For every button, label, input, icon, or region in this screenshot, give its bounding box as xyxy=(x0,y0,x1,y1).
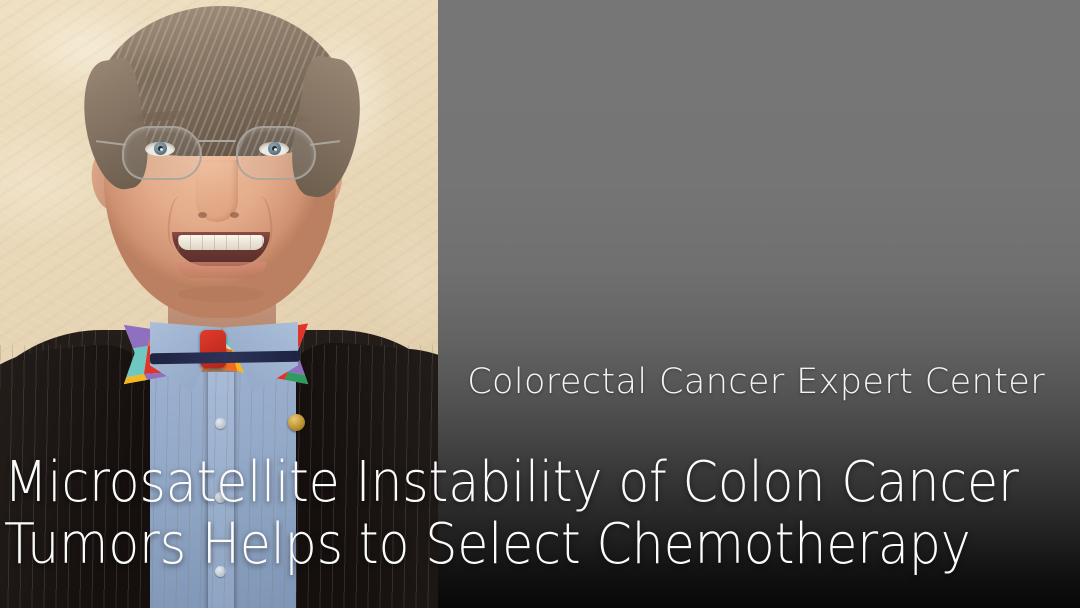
nostril-right xyxy=(230,212,239,218)
nostril-left xyxy=(198,212,207,218)
eyeglass-bridge xyxy=(198,140,236,142)
title-line-2: Tumors Helps to Select Chemotherapy xyxy=(4,514,952,576)
title-line-1: Microsatellite Instability of Colon Canc… xyxy=(4,452,952,514)
teeth xyxy=(178,235,264,250)
program-subtitle: Colorectal Cancer Expert Center xyxy=(0,362,1045,402)
eyeglass-lens-left xyxy=(122,126,202,180)
video-title: Microsatellite Instability of Colon Canc… xyxy=(4,452,952,576)
shirt-button xyxy=(215,418,226,429)
chin-shadow xyxy=(178,286,264,302)
lower-lip xyxy=(176,262,266,278)
video-title-card: Colorectal Cancer Expert Center Microsat… xyxy=(0,0,1080,608)
eyeglass-lens-right xyxy=(236,126,316,180)
gold-lapel-pin xyxy=(288,414,305,431)
